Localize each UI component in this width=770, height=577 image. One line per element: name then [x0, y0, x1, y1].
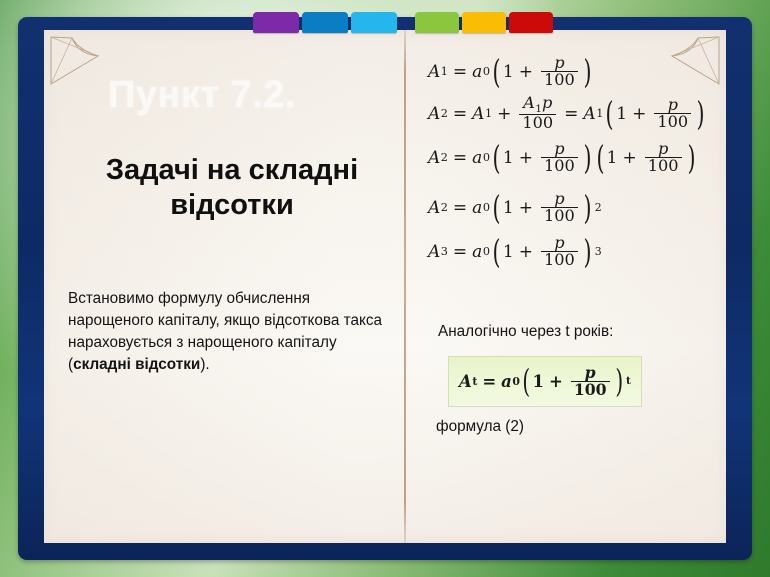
- formula-at-one: 1: [533, 372, 544, 391]
- formula-a1-lhs: A: [428, 62, 440, 82]
- formula-a2s1-equals: =: [453, 104, 467, 124]
- formula-at-numerator: p: [582, 365, 599, 381]
- formula-a2sq-lhs: A: [428, 198, 440, 218]
- formula-at-lhs: A: [459, 372, 472, 391]
- book-page-surface: Пункт 7.2. Задачі на складні відсотки Вс…: [44, 30, 726, 543]
- formula-a3-plus: +: [519, 242, 533, 262]
- formula-a2-step2: A2 = a0 ( 1 + p 100 ) ( 1 + p: [428, 138, 697, 177]
- formula-a2sq-paren-close: ): [583, 188, 591, 227]
- formula-a2sq-fraction: p 100: [541, 191, 578, 225]
- formula-a2s2-paren-open-a: (: [492, 138, 500, 177]
- formula-a2s2-plus-b: +: [622, 148, 636, 168]
- formula-a2s2-paren-close-b: ): [687, 138, 695, 177]
- formula-a2s2-lhs-sub: 2: [441, 151, 448, 164]
- tab-purple[interactable]: [253, 12, 299, 33]
- formula-a2s1-paren-close: ): [697, 94, 705, 133]
- formula-a2s2-one-b: 1: [607, 148, 618, 168]
- formula-a2s2-one-a: 1: [503, 148, 514, 168]
- right-page-content: A1 = a0 ( 1 + p 100 ) A2 = A1: [416, 46, 746, 546]
- formula-a2sq-one: 1: [503, 198, 514, 218]
- body-paragraph: Встановимо формулу обчислення нарощеного…: [68, 288, 386, 376]
- formula-at-lhs-sub: t: [472, 375, 477, 388]
- formula-a2sq-paren-open: (: [492, 188, 500, 227]
- formula-a1-paren-close: ): [583, 52, 591, 91]
- formula-a2s2-fraction-a: p 100: [541, 141, 578, 175]
- formula-at-plus: +: [549, 372, 563, 391]
- formula-a2sq-plus: +: [519, 198, 533, 218]
- formula-a2sq-coef: a: [472, 198, 482, 218]
- formula-a2-step1: A2 = A1 + A1p 100 = A1 ( 1 + p 100: [428, 94, 707, 133]
- highlighted-formula-box: At = a0 ( 1 + p 100 )t: [448, 356, 642, 407]
- formula-a2s1-fraction2: p 100: [654, 97, 691, 131]
- left-page-content: Пункт 7.2. Задачі на складні відсотки Вс…: [62, 46, 402, 546]
- formula-a2s1-paren-open: (: [606, 94, 614, 133]
- formula-at-coef-sub: 0: [512, 375, 520, 388]
- formula-a2s2-lhs: A: [428, 148, 440, 168]
- formula-a2s2-denominator-a: 100: [541, 157, 578, 174]
- formula-a2s2-paren-close-a: ): [583, 138, 591, 177]
- slide-canvas: Пункт 7.2. Задачі на складні відсотки Вс…: [0, 0, 770, 577]
- formula-a2s1-term2-sub: 1: [596, 107, 603, 120]
- paragraph-text-part2: ).: [200, 356, 209, 373]
- formula-a1-equals: =: [453, 62, 467, 82]
- tab-green[interactable]: [415, 12, 459, 33]
- formula-a2s1-plus2: +: [632, 104, 646, 124]
- tab-red[interactable]: [509, 12, 553, 33]
- formula-a2s1-lhs: A: [428, 104, 440, 124]
- formula-a2s1-denominator2: 100: [654, 113, 691, 130]
- formula-a2s1-fraction: A1p 100: [519, 95, 556, 132]
- formula-a2s1-plus: +: [497, 104, 511, 124]
- formula-a1-fraction: p 100: [541, 55, 578, 89]
- formula-a2s2-coef-sub: 0: [483, 151, 490, 164]
- formula-a3-cubed: A3 = a0 ( 1 + p 100 )3: [428, 232, 602, 271]
- formula-a1-numerator: p: [551, 55, 567, 71]
- formula-at-coef: a: [501, 372, 512, 391]
- formula-at-paren-open: (: [522, 362, 530, 400]
- formula-caption: формула (2): [436, 418, 524, 436]
- formula-a2s1-equals2: =: [564, 104, 578, 124]
- formula-a2sq-denominator: 100: [541, 207, 578, 224]
- formula-a2s2-paren-open-b: (: [596, 138, 604, 177]
- formula-a2s1-one: 1: [616, 104, 627, 124]
- formula-a2sq-lhs-sub: 2: [441, 201, 448, 214]
- formula-at-exponent: t: [626, 375, 631, 387]
- formula-a2s1-term2: A: [583, 104, 595, 124]
- formula-a3-paren-close: ): [583, 232, 591, 271]
- formula-a1-lhs-sub: 1: [441, 65, 448, 78]
- formula-a3-lhs-sub: 3: [441, 245, 448, 258]
- formula-a3-exponent: 3: [595, 245, 602, 258]
- formula-a1-coef-sub: 0: [483, 65, 490, 78]
- formula-a1-paren-open: (: [492, 52, 500, 91]
- formula-a2s1-numerator2: p: [665, 97, 681, 113]
- formula-a3-denominator: 100: [541, 251, 578, 268]
- formula-at-denominator: 100: [571, 381, 610, 398]
- formula-a2sq-equals: =: [453, 198, 467, 218]
- formula-a1-plus: +: [519, 62, 533, 82]
- formula-a3-coef-sub: 0: [483, 245, 490, 258]
- formula-a2s1-num-a: A: [523, 93, 535, 112]
- formula-a1-denominator: 100: [541, 71, 578, 88]
- tab-cyan[interactable]: [351, 12, 397, 33]
- formula-a2s1-term1-sub: 1: [485, 107, 492, 120]
- formula-a2s1-denominator: 100: [519, 114, 556, 131]
- formula-a2s1-lhs-sub: 2: [441, 107, 448, 120]
- formula-at-fraction: p 100: [571, 365, 610, 398]
- formula-a3-lhs: A: [428, 242, 440, 262]
- formula-a3-one: 1: [503, 242, 514, 262]
- formula-a2s2-plus-a: +: [519, 148, 533, 168]
- tab-blue[interactable]: [302, 12, 348, 33]
- color-tabs-strip: [253, 12, 556, 34]
- book-frame: Пункт 7.2. Задачі на складні відсотки Вс…: [18, 17, 752, 560]
- formula-a3-numerator: p: [551, 235, 567, 251]
- formula-a1-one: 1: [503, 62, 514, 82]
- formula-a2s2-equals: =: [453, 148, 467, 168]
- formula-a2s2-denominator-b: 100: [645, 157, 682, 174]
- similar-case-text: Аналогічно через t років:: [438, 323, 613, 341]
- slide-section-title: Пункт 7.2.: [108, 74, 408, 117]
- formula-a2s2-numerator-a: p: [551, 141, 567, 157]
- formula-a3-equals: =: [453, 242, 467, 262]
- formula-a1: A1 = a0 ( 1 + p 100 ): [428, 52, 594, 91]
- formula-at-general: At = a0 ( 1 + p 100 )t: [459, 362, 631, 400]
- formula-at-equals: =: [482, 372, 496, 391]
- formula-a2s1-term1: A: [472, 104, 484, 124]
- formula-a1-coef: a: [472, 62, 482, 82]
- formula-a2sq-numerator: p: [551, 191, 567, 207]
- formula-a2sq-coef-sub: 0: [483, 201, 490, 214]
- tab-yellow[interactable]: [462, 12, 506, 33]
- formula-a2s2-numerator-b: p: [655, 141, 671, 157]
- formula-a2sq-exponent: 2: [595, 201, 602, 214]
- formula-a3-fraction: p 100: [541, 235, 578, 269]
- formula-a3-coef: a: [472, 242, 482, 262]
- formula-at-paren-close: ): [615, 362, 623, 400]
- formula-a2-squared: A2 = a0 ( 1 + p 100 )2: [428, 188, 602, 227]
- formula-a2s1-numerator: A1p: [520, 95, 555, 114]
- paragraph-bold-term: складні відсотки: [73, 356, 200, 373]
- formula-a2s2-fraction-b: p 100: [645, 141, 682, 175]
- formula-a3-paren-open: (: [492, 232, 500, 271]
- page-title: Задачі на складні відсотки: [62, 153, 402, 224]
- formula-a2s1-num-p: p: [542, 93, 552, 112]
- formula-a2s2-coef: a: [472, 148, 482, 168]
